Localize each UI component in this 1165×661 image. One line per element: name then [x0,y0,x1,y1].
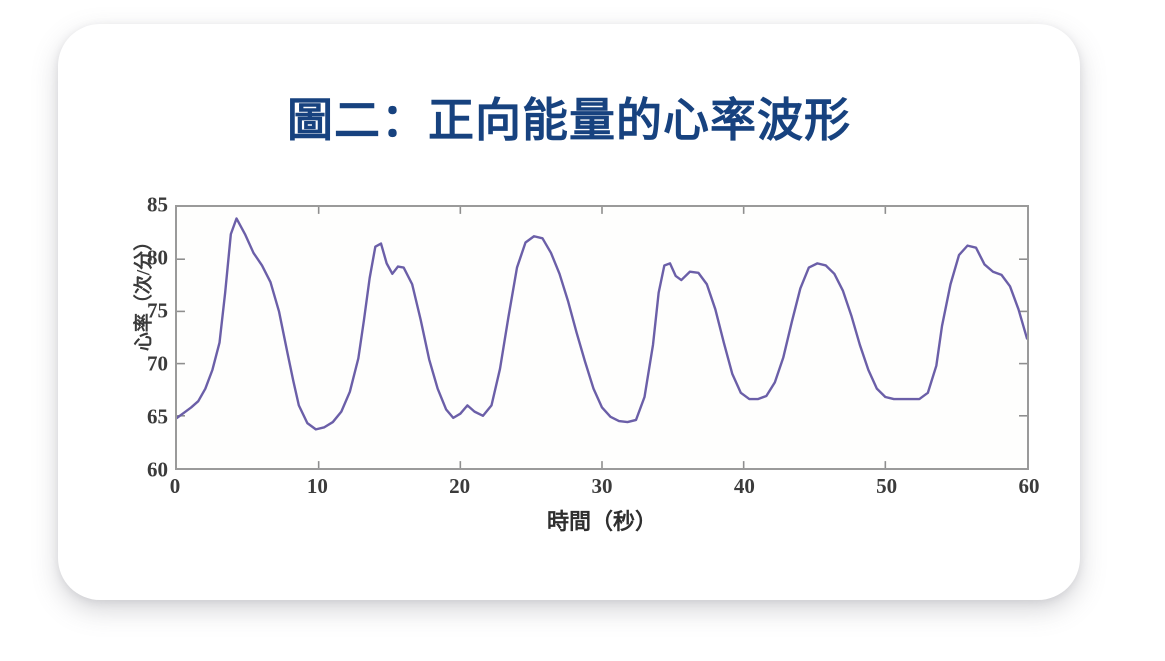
waveform-svg [177,207,1027,468]
y-axis-tick-labels: 606570758085 [100,205,168,470]
heart-rate-waveform-line [177,218,1027,429]
x-axis-title: 時間（秒） [175,504,1029,536]
x-tick-label: 50 [876,474,897,499]
y-tick-label: 60 [147,458,168,483]
y-tick-label: 80 [147,246,168,271]
y-tick-label: 75 [147,299,168,324]
x-axis-tick-labels: 0102030405060 [175,474,1029,504]
screenshot-root: 圖二：正向能量的心率波形 心率（次/分） 606570758085 010203… [0,0,1165,661]
x-tick-label: 20 [449,474,470,499]
axis-ticks [177,207,1027,468]
y-tick-label: 70 [147,352,168,377]
y-tick-label: 85 [147,193,168,218]
plot-area [175,205,1029,470]
x-tick-label: 60 [1019,474,1040,499]
x-tick-label: 30 [592,474,613,499]
x-tick-label: 40 [734,474,755,499]
page-title: 圖二：正向能量的心率波形 [58,84,1080,150]
chart-figure: 心率（次/分） 606570758085 0102030405060 時間（秒） [80,178,1040,543]
y-tick-label: 65 [147,405,168,430]
x-tick-label: 10 [307,474,328,499]
x-tick-label: 0 [170,474,181,499]
